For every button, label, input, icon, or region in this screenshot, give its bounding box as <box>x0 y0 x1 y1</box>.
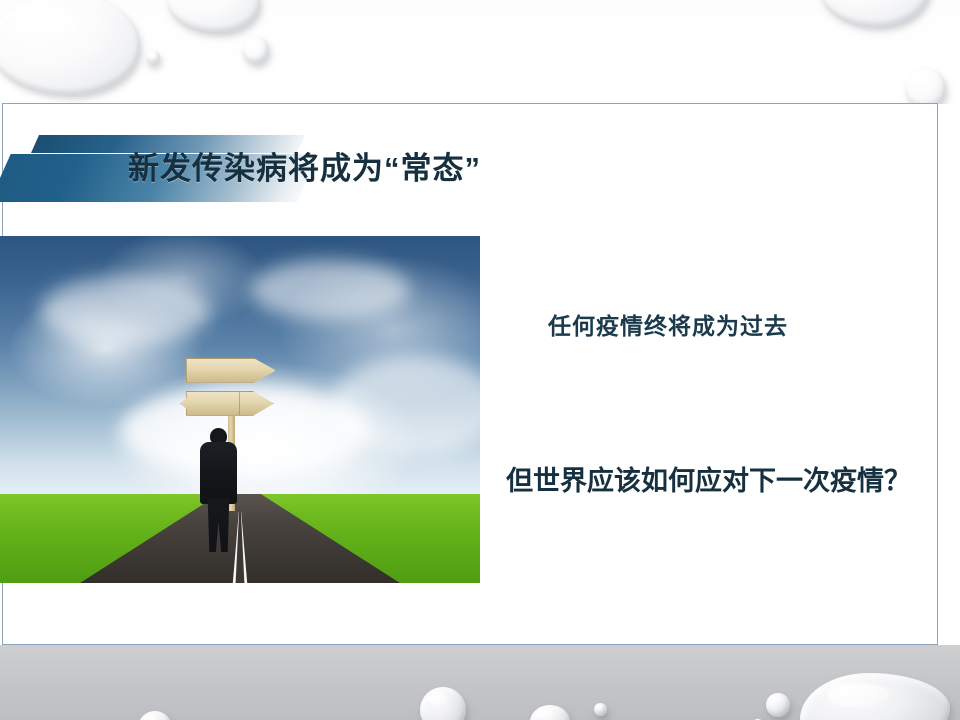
body-text-line-2: 但世界应该如何应对下一次疫情？ <box>506 459 911 498</box>
droplet-highlight-icon <box>827 683 890 707</box>
droplet-highlight-icon <box>913 73 930 85</box>
crossroads-photo <box>0 236 480 583</box>
droplet-highlight-icon <box>770 696 780 703</box>
droplet-tiny-center <box>146 50 160 64</box>
bottom-decoration-band <box>0 645 960 720</box>
droplet-highlight-icon <box>537 709 554 719</box>
slide-canvas: 新发传染病将成为“常态” 任何疫情终将成为过去 但世界应该如何应对下一次疫情？ <box>0 0 960 720</box>
droplet-highlight-icon <box>17 6 80 36</box>
droplet-highlight-icon <box>144 715 158 720</box>
droplet-highlight-icon <box>596 705 601 709</box>
businessman-torso <box>200 442 237 504</box>
cloud-wisp-icon <box>250 260 410 320</box>
droplet-large-top-right <box>820 0 930 26</box>
droplet-bottom-tiny-a <box>594 703 607 716</box>
droplet-round-right <box>906 68 946 104</box>
droplet-small-center <box>243 36 269 63</box>
droplet-medium-upper <box>168 0 260 32</box>
slide-title: 新发传染病将成为“常态” <box>128 150 548 188</box>
droplet-bottom-small <box>766 693 790 717</box>
cloud-wisp-icon <box>40 276 210 346</box>
droplet-highlight-icon <box>428 693 447 707</box>
droplet-bottom-far-left <box>138 711 172 720</box>
droplet-bottom-mid <box>530 705 570 720</box>
droplet-large-left <box>0 0 140 94</box>
droplet-highlight-icon <box>248 39 259 47</box>
droplet-highlight-icon <box>149 52 155 56</box>
body-text-line-1: 任何疫情终将成为过去 <box>548 307 788 341</box>
droplet-bottom-left <box>420 687 466 720</box>
droplet-bottom-blob <box>800 673 950 720</box>
top-decoration-band <box>0 0 960 104</box>
